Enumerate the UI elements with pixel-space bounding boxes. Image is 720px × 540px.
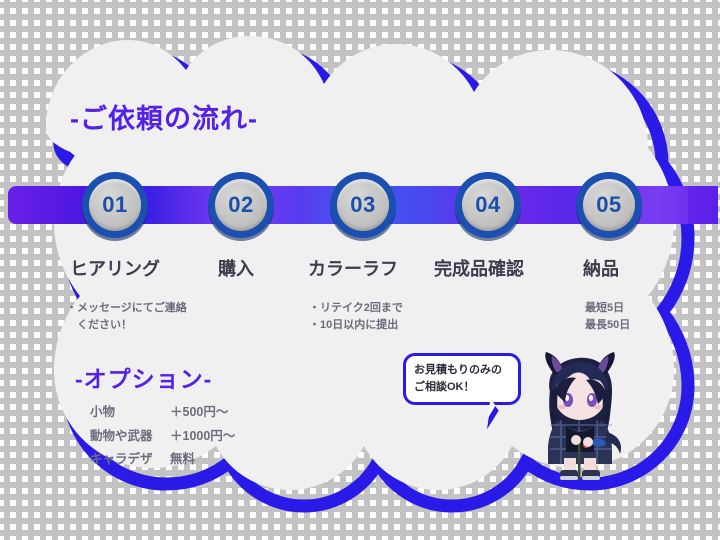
step-detail-line: ・リテイク2回まで (309, 300, 403, 317)
step-detail-03: ・リテイク2回まで ・10日以内に提出 (309, 300, 403, 334)
option-name: 動物や武器 (90, 426, 168, 448)
progress-bar-right-cap (688, 186, 718, 224)
step-label-03: カラーラフ (308, 255, 398, 281)
options-table: 小物 ＋500円〜 動物や武器 ＋1000円〜 キャラデザ 無料 (88, 400, 237, 473)
step-inner: 01 (89, 179, 141, 231)
page-title: -ご依頼の流れ- (70, 97, 258, 136)
option-row: 動物や武器 ＋1000円〜 (90, 426, 235, 448)
step-label-01: ヒアリング (70, 255, 160, 281)
step-circle-02[interactable]: 02 (208, 172, 274, 238)
options-title: -オプション- (75, 360, 212, 394)
step-detail-line: 最短5日 (585, 300, 630, 317)
step-label-02: 購入 (218, 255, 254, 281)
step-number: 02 (228, 192, 253, 218)
speech-bubble-line-2: ご相談OK！ (414, 379, 522, 396)
option-price: 無料 (170, 449, 235, 471)
step-number: 01 (102, 192, 127, 218)
step-detail-line: 最長50日 (585, 317, 630, 334)
step-circle-01[interactable]: 01 (82, 172, 148, 238)
option-name: 小物 (90, 402, 168, 424)
step-inner: 05 (583, 179, 635, 231)
step-number: 04 (475, 192, 500, 218)
option-price: ＋1000円〜 (170, 426, 235, 448)
content-layer: -ご依頼の流れ- 01 ヒアリング ・メッセージにてご連絡 ください！ 02 購… (0, 0, 720, 540)
step-detail-line: ・10日以内に提出 (309, 317, 403, 334)
step-number: 05 (596, 192, 621, 218)
option-price: ＋500円〜 (170, 402, 235, 424)
speech-bubble-line-1: お見積もりのみの (414, 362, 522, 379)
step-inner: 03 (337, 179, 389, 231)
step-detail-01: ・メッセージにてご連絡 ください！ (66, 300, 187, 334)
step-label-04: 完成品確認 (434, 255, 524, 281)
option-row: キャラデザ 無料 (90, 449, 235, 471)
step-circle-03[interactable]: 03 (330, 172, 396, 238)
step-detail-line: ください！ (66, 317, 187, 334)
speech-bubble-text: お見積もりのみの ご相談OK！ (414, 362, 522, 395)
step-circle-04[interactable]: 04 (455, 172, 521, 238)
step-detail-05: 最短5日 最長50日 (585, 300, 630, 334)
step-number: 03 (350, 192, 375, 218)
step-inner: 04 (462, 179, 514, 231)
option-row: 小物 ＋500円〜 (90, 402, 235, 424)
step-circle-05[interactable]: 05 (576, 172, 642, 238)
step-detail-line: ・メッセージにてご連絡 (66, 300, 187, 317)
step-inner: 02 (215, 179, 267, 231)
step-label-05: 納品 (583, 255, 619, 281)
chibi-character-illustration (520, 350, 640, 485)
option-name: キャラデザ (90, 449, 168, 471)
